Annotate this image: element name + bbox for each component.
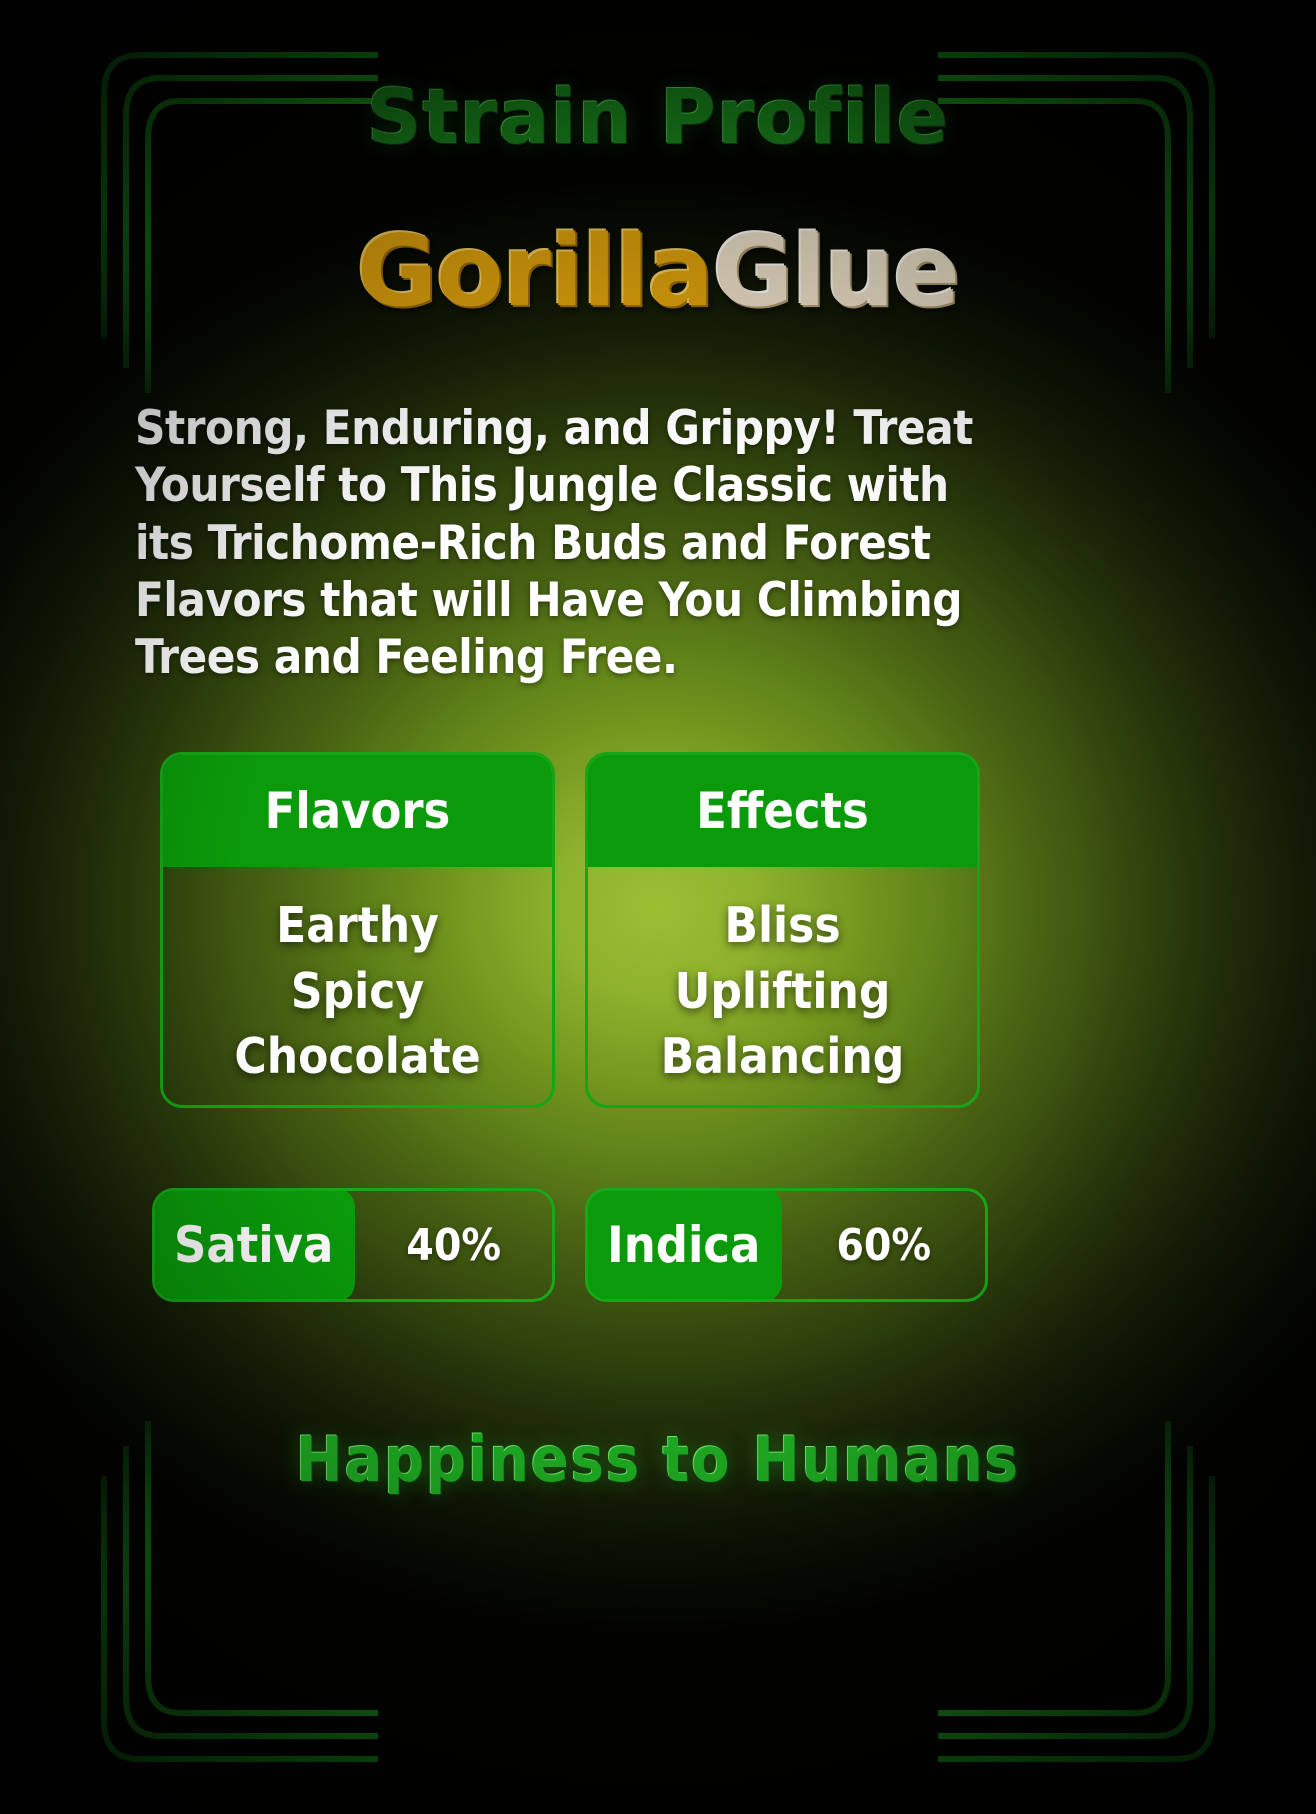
sativa-label: Sativa (174, 1216, 333, 1274)
indica-label: Indica (607, 1216, 760, 1274)
flavors-card-body: Earthy Spicy Chocolate (163, 867, 552, 1105)
effect-item: Balancing (661, 1024, 905, 1090)
flavor-item: Earthy (276, 893, 439, 959)
genetics-ratio-bars: Sativa 40% Indica 60% (152, 1188, 988, 1302)
indica-value-area: 60% (782, 1191, 985, 1299)
strain-name: GorillaGlue (0, 223, 1316, 321)
flavor-item: Spicy (291, 959, 424, 1025)
flavors-card: Flavors Earthy Spicy Chocolate (160, 752, 555, 1108)
sativa-percent: 40% (406, 1220, 501, 1271)
effects-card-title: Effects (696, 782, 869, 840)
strain-profile-poster: Strain Profile GorillaGlue Strong, Endur… (0, 0, 1316, 1814)
title-block: Strain Profile GorillaGlue (0, 72, 1316, 321)
attribute-cards: Flavors Earthy Spicy Chocolate Effects B… (160, 752, 980, 1108)
flavors-card-header: Flavors (163, 755, 552, 867)
effect-item: Uplifting (675, 959, 891, 1025)
flavors-card-title: Flavors (265, 782, 451, 840)
strain-name-part-glue: Glue (713, 215, 959, 329)
page-title: Strain Profile (0, 72, 1316, 161)
effects-card: Effects Bliss Uplifting Balancing (585, 752, 980, 1108)
strain-description: Strong, Enduring, and Grippy! Treat Your… (135, 400, 1015, 687)
indica-ratio-bar: Indica 60% (585, 1188, 988, 1302)
indica-percent: 60% (836, 1220, 931, 1271)
indica-label-pill: Indica (585, 1188, 782, 1302)
footer-tagline: Happiness to Humans (0, 1423, 1316, 1496)
strain-name-part-gorilla: Gorilla (357, 215, 713, 329)
effects-card-header: Effects (588, 755, 977, 867)
sativa-label-pill: Sativa (152, 1188, 355, 1302)
effects-card-body: Bliss Uplifting Balancing (588, 867, 977, 1105)
sativa-ratio-bar: Sativa 40% (152, 1188, 555, 1302)
flavor-item: Chocolate (234, 1024, 480, 1090)
effect-item: Bliss (724, 893, 840, 959)
sativa-value-area: 40% (355, 1191, 552, 1299)
